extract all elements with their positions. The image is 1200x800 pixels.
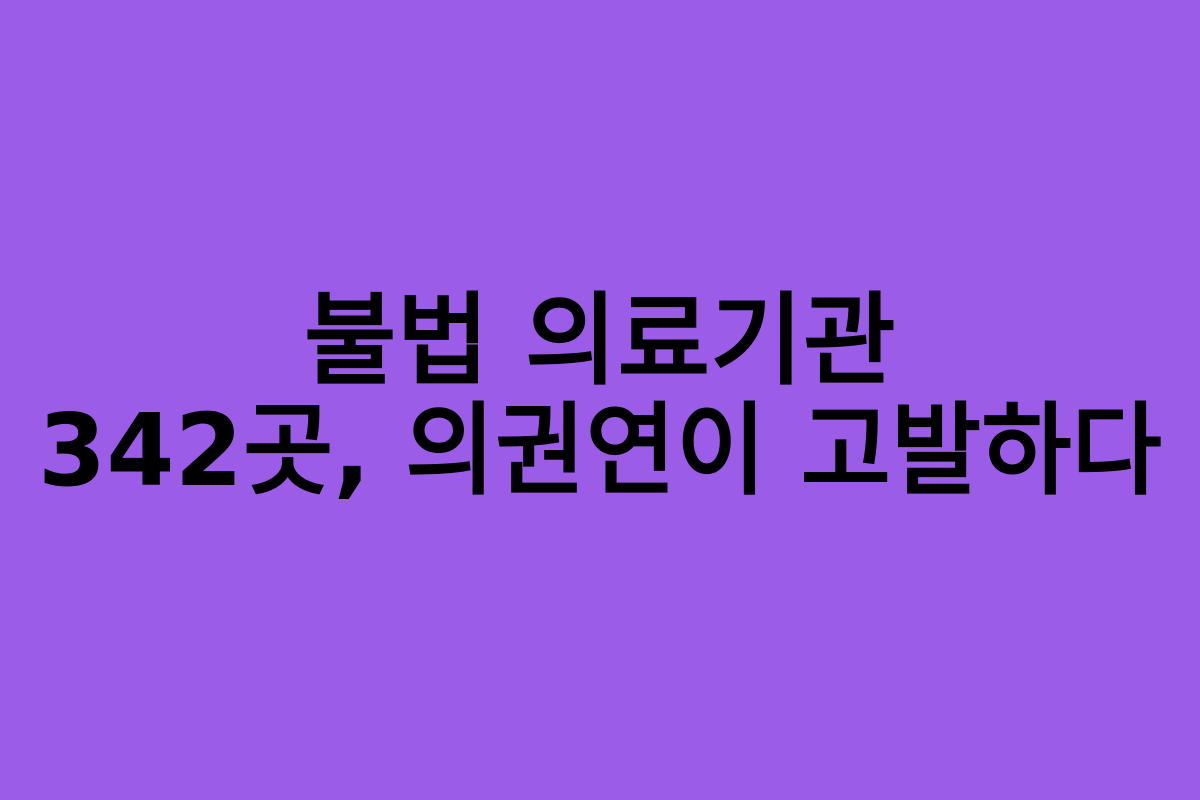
headline-line-1: 불법 의료기관 xyxy=(0,287,1200,395)
headline-block: 불법 의료기관 342곳, 의권연이 고발하다 xyxy=(0,287,1200,507)
headline-line-2: 342곳, 의권연이 고발하다 xyxy=(12,395,1188,507)
title-card: 불법 의료기관 342곳, 의권연이 고발하다 xyxy=(0,0,1200,800)
